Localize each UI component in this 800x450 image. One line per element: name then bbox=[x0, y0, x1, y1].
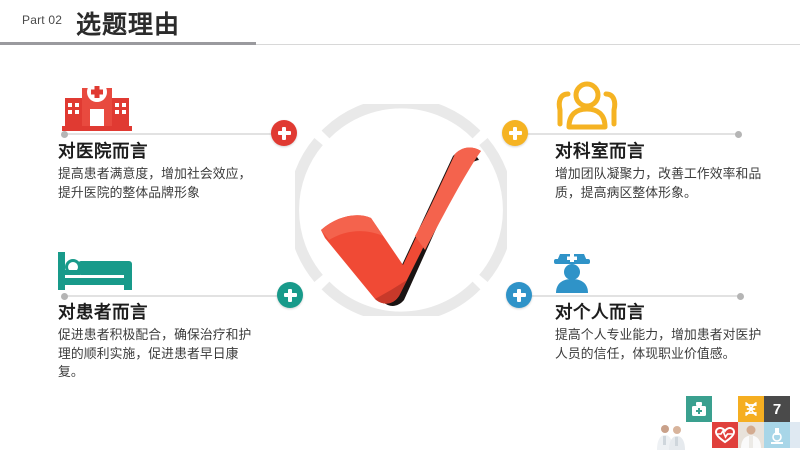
hospital-icon bbox=[62, 78, 128, 130]
plus-bar-vertical bbox=[517, 289, 520, 302]
block-title-individual: 对个人而言 bbox=[555, 303, 765, 324]
corner-decoration: 7 bbox=[656, 396, 800, 450]
plus-badge-hospital[interactable] bbox=[271, 120, 297, 146]
block-title-hospital: 对医院而言 bbox=[58, 142, 263, 163]
block-title-patient: 对患者而言 bbox=[58, 303, 263, 324]
plus-bar-vertical bbox=[513, 127, 516, 140]
block-body-patient: 促进患者积极配合，确保治疗和护理的顺利实施，促进患者早日康复。 bbox=[58, 327, 263, 383]
connector-endpoint-bottom-right bbox=[737, 293, 744, 300]
nurse-icon bbox=[548, 250, 596, 294]
page-title: 选题理由 bbox=[76, 5, 180, 41]
slide-header: Part 02 选题理由 bbox=[0, 0, 800, 48]
block-title-department: 对科室而言 bbox=[555, 142, 765, 163]
connector-line-bottom-left bbox=[64, 295, 288, 297]
plus-badge-patient[interactable] bbox=[277, 282, 303, 308]
block-body-individual: 提高个人专业能力，增加患者对医护人员的信任，体现职业价值感。 bbox=[555, 327, 765, 364]
dna-icon bbox=[738, 396, 764, 422]
block-body-department: 增加团队凝聚力，改善工作效率和品质，提高病区整体形象。 bbox=[555, 166, 765, 203]
connector-line-top-left bbox=[64, 133, 284, 135]
number-tile: 7 bbox=[764, 396, 790, 422]
medical-bag-icon bbox=[686, 396, 712, 422]
connector-endpoint-top-left bbox=[61, 131, 68, 138]
doctor-photo-tile bbox=[738, 422, 764, 448]
connector-endpoint-bottom-left bbox=[61, 293, 68, 300]
plus-badge-department[interactable] bbox=[502, 120, 528, 146]
connector-line-bottom-right bbox=[522, 295, 740, 297]
connector-line-top-right bbox=[518, 133, 740, 135]
people-group-icon bbox=[552, 80, 618, 132]
slide: Part 02 选题理由 bbox=[0, 0, 800, 450]
microscope-tile bbox=[764, 422, 790, 448]
plus-badge-individual[interactable] bbox=[506, 282, 532, 308]
medical-bag-tile bbox=[686, 396, 712, 422]
part-label: Part 02 bbox=[22, 13, 62, 27]
patient-bed-icon bbox=[56, 248, 134, 292]
microscope-icon bbox=[764, 422, 790, 448]
plus-bar-vertical bbox=[282, 127, 285, 140]
checkmark-icon bbox=[303, 124, 503, 324]
dna-tile bbox=[738, 396, 764, 422]
tile-number: 7 bbox=[773, 401, 781, 418]
heart-pulse-icon bbox=[712, 422, 738, 448]
plus-bar-vertical bbox=[288, 289, 291, 302]
block-body-hospital: 提高患者满意度，增加社会效应，提升医院的整体品牌形象 bbox=[58, 166, 263, 203]
heart-pulse-tile bbox=[712, 422, 738, 448]
center-graphic bbox=[295, 62, 507, 362]
header-divider-thick bbox=[0, 42, 256, 45]
blank-tile bbox=[790, 422, 800, 448]
doctors-photo bbox=[656, 422, 688, 450]
connector-endpoint-top-right bbox=[735, 131, 742, 138]
